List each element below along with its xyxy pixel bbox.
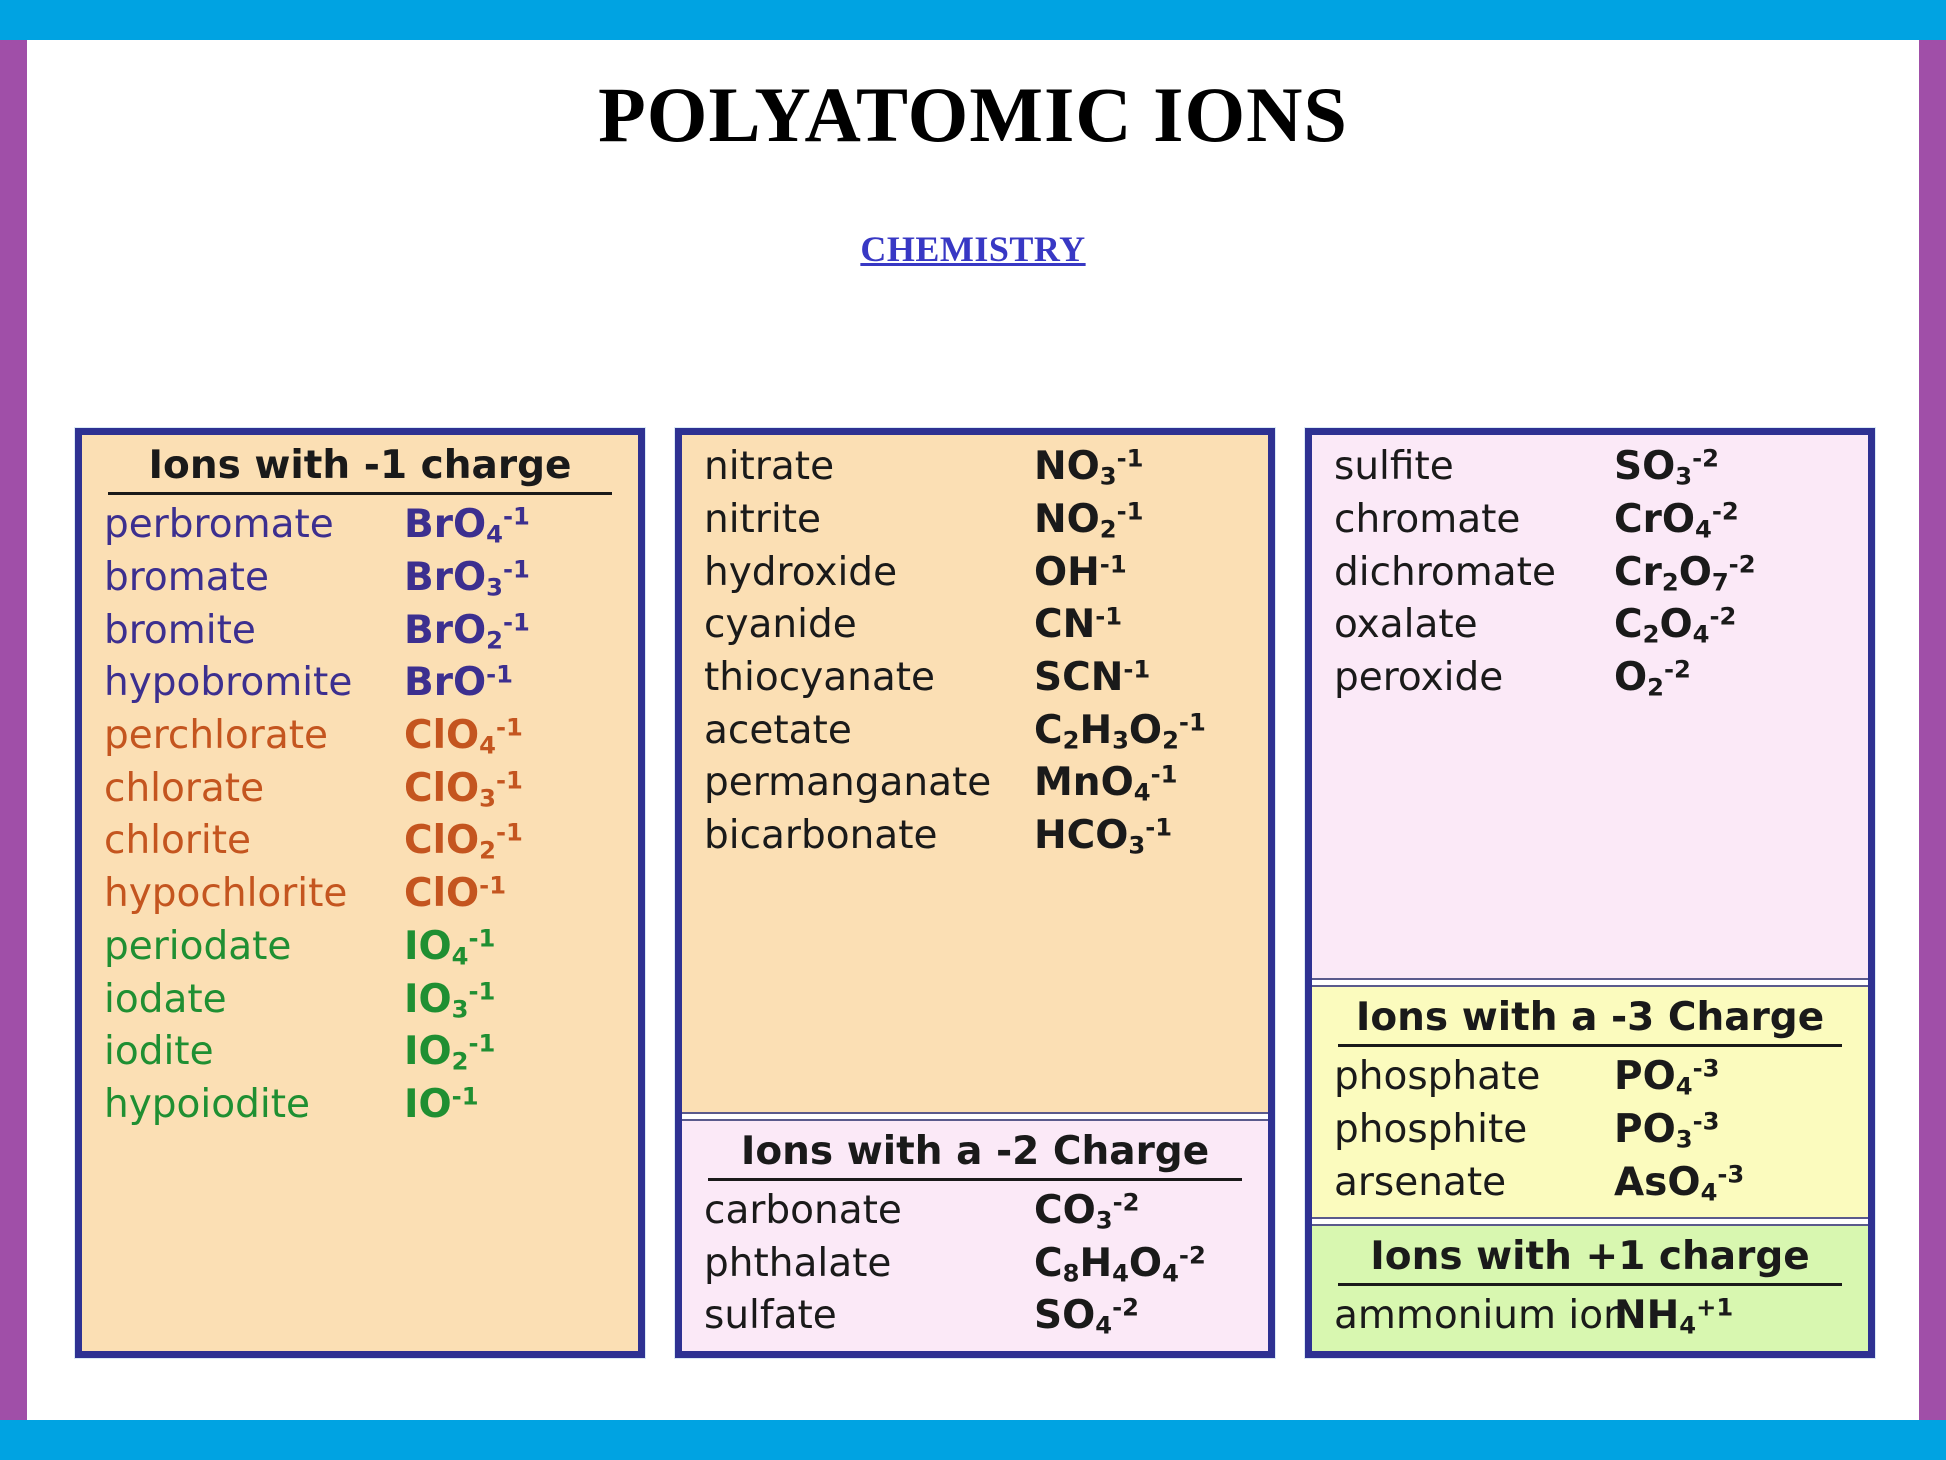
ion-reference-boards: Ions with -1 chargeperbromateBrO4-1broma… bbox=[75, 428, 1875, 1358]
ion-name: nitrite bbox=[704, 495, 1034, 546]
ion-row: arsenateAsO4-3 bbox=[1334, 1157, 1846, 1210]
ion-name: peroxide bbox=[1334, 653, 1614, 704]
ion-row: acetateC2H3O2-1 bbox=[704, 705, 1246, 758]
ion-row: chloriteClO2-1 bbox=[104, 815, 616, 868]
ion-formula: C8H4O4-2 bbox=[1034, 1239, 1246, 1290]
ion-row: sulfiteSO3-2 bbox=[1334, 441, 1846, 494]
ion-formula: AsO4-3 bbox=[1614, 1158, 1846, 1209]
ion-name: bicarbonate bbox=[704, 811, 1034, 862]
ion-name: chromate bbox=[1334, 495, 1614, 546]
ion-row: phosphatePO4-3 bbox=[1334, 1051, 1846, 1104]
ion-formula: Cr2O7-2 bbox=[1614, 548, 1846, 599]
ion-name: acetate bbox=[704, 706, 1034, 757]
ion-formula: ClO3-1 bbox=[404, 764, 616, 815]
ion-formula: CrO4-2 bbox=[1614, 495, 1846, 546]
ion-formula: ClO-1 bbox=[404, 869, 616, 920]
ion-name: permanganate bbox=[704, 758, 1034, 809]
panel-divider bbox=[1312, 1217, 1868, 1226]
ion-name: bromite bbox=[104, 606, 404, 657]
ion-row: sulfateSO4-2 bbox=[704, 1290, 1246, 1343]
ion-row: chlorateClO3-1 bbox=[104, 763, 616, 816]
ion-row: peroxideO2-2 bbox=[1334, 652, 1846, 705]
ion-formula: BrO3-1 bbox=[404, 553, 616, 604]
ion-formula: O2-2 bbox=[1614, 653, 1846, 704]
ion-name: perbromate bbox=[104, 500, 404, 551]
ion-formula: SO4-2 bbox=[1034, 1291, 1246, 1342]
ion-formula: IO-1 bbox=[404, 1080, 616, 1131]
ion-name: ammonium ion bbox=[1334, 1291, 1614, 1342]
ion-name: bromate bbox=[104, 553, 404, 604]
column-2: nitrateNO3-1nitriteNO2-1hydroxideOH-1cya… bbox=[675, 428, 1275, 1358]
ion-formula: NH4+1 bbox=[1614, 1291, 1846, 1342]
ion-name: carbonate bbox=[704, 1186, 1034, 1237]
panel-minus1-others: nitrateNO3-1nitriteNO2-1hydroxideOH-1cya… bbox=[682, 435, 1268, 1112]
ion-row: iodateIO3-1 bbox=[104, 974, 616, 1027]
ion-formula: BrO2-1 bbox=[404, 606, 616, 657]
ion-name: hydroxide bbox=[704, 548, 1034, 599]
ion-row: phosphitePO3-3 bbox=[1334, 1104, 1846, 1157]
ion-name: hypoiodite bbox=[104, 1080, 404, 1131]
ion-name: chlorite bbox=[104, 816, 404, 867]
ion-row: hypoioditeIO-1 bbox=[104, 1079, 616, 1132]
ion-formula: BrO4-1 bbox=[404, 500, 616, 551]
ion-row: dichromateCr2O7-2 bbox=[1334, 547, 1846, 600]
ion-name: phosphate bbox=[1334, 1052, 1614, 1103]
panel-minus2-continued: sulfiteSO3-2chromateCrO4-2dichromateCr2O… bbox=[1312, 435, 1868, 978]
ion-formula: C2H3O2-1 bbox=[1034, 706, 1246, 757]
ion-formula: C2O4-2 bbox=[1614, 600, 1846, 651]
ion-row: oxalateC2O4-2 bbox=[1334, 599, 1846, 652]
ion-row: cyanideCN-1 bbox=[704, 599, 1246, 652]
panel-plus1: Ions with +1 chargeammonium ionNH4+1 bbox=[1312, 1226, 1868, 1351]
ion-formula: ClO2-1 bbox=[404, 816, 616, 867]
ion-formula: ClO4-1 bbox=[404, 711, 616, 762]
ion-name: sulfate bbox=[704, 1291, 1034, 1342]
subtitle: CHEMISTRY bbox=[0, 228, 1946, 270]
ion-row: chromateCrO4-2 bbox=[1334, 494, 1846, 547]
ion-name: thiocyanate bbox=[704, 653, 1034, 704]
ion-name: hypochlorite bbox=[104, 869, 404, 920]
section-heading: Ions with a -3 Charge bbox=[1338, 993, 1842, 1047]
ion-name: chlorate bbox=[104, 764, 404, 815]
panel-divider bbox=[1312, 978, 1868, 987]
panel-minus2: Ions with a -2 ChargecarbonateCO3-2phtha… bbox=[682, 1121, 1268, 1351]
ion-row: perbromateBrO4-1 bbox=[104, 499, 616, 552]
section-heading: Ions with +1 charge bbox=[1338, 1232, 1842, 1286]
ion-row: hypobromiteBrO-1 bbox=[104, 657, 616, 710]
section-heading: Ions with -1 charge bbox=[108, 441, 612, 495]
ion-row: permanganateMnO4-1 bbox=[704, 757, 1246, 810]
ion-name: iodate bbox=[104, 975, 404, 1026]
ion-name: sulfite bbox=[1334, 442, 1614, 493]
panel-minus1-halogens: Ions with -1 chargeperbromateBrO4-1broma… bbox=[82, 435, 638, 1351]
ion-formula: HCO3-1 bbox=[1034, 811, 1246, 862]
ion-row: hypochloriteClO-1 bbox=[104, 868, 616, 921]
panel-divider bbox=[682, 1112, 1268, 1121]
ion-formula: CO3-2 bbox=[1034, 1186, 1246, 1237]
ion-row: bromateBrO3-1 bbox=[104, 552, 616, 605]
ion-row: ioditeIO2-1 bbox=[104, 1026, 616, 1079]
ion-name: phosphite bbox=[1334, 1105, 1614, 1156]
ion-name: nitrate bbox=[704, 442, 1034, 493]
ion-formula: PO3-3 bbox=[1614, 1105, 1846, 1156]
ion-name: perchlorate bbox=[104, 711, 404, 762]
column-3: sulfiteSO3-2chromateCrO4-2dichromateCr2O… bbox=[1305, 428, 1875, 1358]
column-1: Ions with -1 chargeperbromateBrO4-1broma… bbox=[75, 428, 645, 1358]
ion-formula: NO2-1 bbox=[1034, 495, 1246, 546]
ion-formula: IO2-1 bbox=[404, 1027, 616, 1078]
ion-name: arsenate bbox=[1334, 1158, 1614, 1209]
ion-row: phthalateC8H4O4-2 bbox=[704, 1238, 1246, 1291]
ion-formula: BrO-1 bbox=[404, 658, 616, 709]
subtitle-text: CHEMISTRY bbox=[860, 229, 1085, 269]
ion-name: dichromate bbox=[1334, 548, 1614, 599]
ion-row: bromiteBrO2-1 bbox=[104, 605, 616, 658]
slide-top-accent-band bbox=[0, 0, 1946, 40]
ion-row: bicarbonateHCO3-1 bbox=[704, 810, 1246, 863]
ion-formula: OH-1 bbox=[1034, 548, 1246, 599]
section-heading: Ions with a -2 Charge bbox=[708, 1127, 1242, 1181]
ion-row: nitriteNO2-1 bbox=[704, 494, 1246, 547]
ion-formula: NO3-1 bbox=[1034, 442, 1246, 493]
ion-name: iodite bbox=[104, 1027, 404, 1078]
panel-minus3: Ions with a -3 ChargephosphatePO4-3phosp… bbox=[1312, 987, 1868, 1217]
ion-formula: MnO4-1 bbox=[1034, 758, 1246, 809]
ion-name: periodate bbox=[104, 922, 404, 973]
ion-name: hypobromite bbox=[104, 658, 404, 709]
ion-formula: SCN-1 bbox=[1034, 653, 1246, 704]
ion-formula: CN-1 bbox=[1034, 600, 1246, 651]
ion-name: oxalate bbox=[1334, 600, 1614, 651]
ion-formula: IO3-1 bbox=[404, 975, 616, 1026]
ion-row: ammonium ionNH4+1 bbox=[1334, 1290, 1846, 1343]
ion-formula: SO3-2 bbox=[1614, 442, 1846, 493]
ion-name: cyanide bbox=[704, 600, 1034, 651]
ion-name: phthalate bbox=[704, 1239, 1034, 1290]
ion-row: nitrateNO3-1 bbox=[704, 441, 1246, 494]
ion-formula: PO4-3 bbox=[1614, 1052, 1846, 1103]
ion-formula: IO4-1 bbox=[404, 922, 616, 973]
slide-bottom-accent-band bbox=[0, 1420, 1946, 1460]
ion-row: carbonateCO3-2 bbox=[704, 1185, 1246, 1238]
ion-row: hydroxideOH-1 bbox=[704, 547, 1246, 600]
page-title: POLYATOMIC IONS bbox=[0, 72, 1946, 158]
ion-row: periodateIO4-1 bbox=[104, 921, 616, 974]
ion-row: thiocyanateSCN-1 bbox=[704, 652, 1246, 705]
ion-row: perchlorateClO4-1 bbox=[104, 710, 616, 763]
